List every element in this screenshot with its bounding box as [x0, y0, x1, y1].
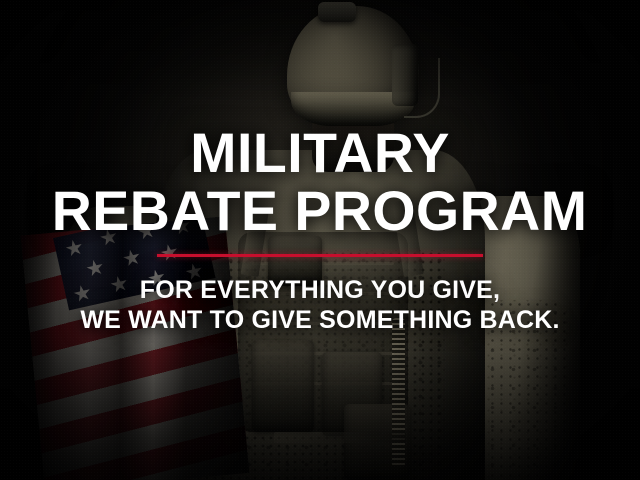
text-overlay: MILITARY REBATE PROGRAM FOR EVERYTHING Y…	[0, 0, 640, 480]
subheadline-line-2: WE WANT TO GIVE SOMETHING BACK.	[80, 305, 559, 336]
red-divider-rule	[157, 254, 483, 257]
headline-line-1: MILITARY	[190, 126, 450, 180]
subheadline-line-1: FOR EVERYTHING YOU GIVE,	[80, 275, 559, 306]
military-rebate-program-poster: MILITARY REBATE PROGRAM FOR EVERYTHING Y…	[0, 0, 640, 480]
subheadline: FOR EVERYTHING YOU GIVE, WE WANT TO GIVE…	[80, 275, 559, 336]
headline-line-2: REBATE PROGRAM	[52, 184, 588, 238]
